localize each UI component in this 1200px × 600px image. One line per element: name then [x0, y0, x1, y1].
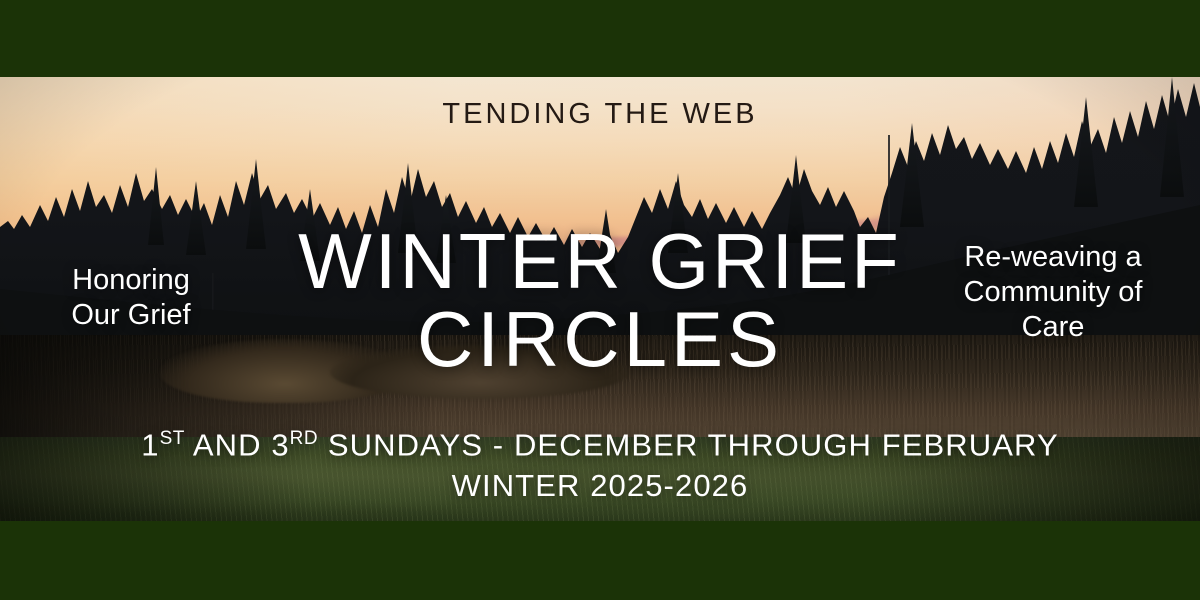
right-tagline-line-3: Care — [1022, 311, 1085, 343]
top-green-band — [0, 0, 1200, 77]
event-banner-poster: TENDING THE WEB WINTER GRIEF CIRCLES Hon… — [0, 0, 1200, 600]
schedule-conjunction: AND — [185, 427, 271, 462]
schedule-season-line: WINTER 2025-2026 — [0, 465, 1200, 506]
schedule-number-second: 3 — [271, 427, 289, 462]
organization-eyebrow: TENDING THE WEB — [0, 98, 1200, 131]
poster-text-layer: TENDING THE WEB WINTER GRIEF CIRCLES Hon… — [0, 0, 1200, 600]
schedule-block: 1ST AND 3RD SUNDAYS - DECEMBER THROUGH F… — [0, 418, 1200, 506]
left-tagline: Honoring Our Grief — [36, 263, 226, 333]
schedule-rest: SUNDAYS - DECEMBER THROUGH FEBRUARY — [318, 427, 1059, 462]
bottom-green-band — [0, 521, 1200, 600]
schedule-number-first: 1 — [141, 427, 159, 462]
left-tagline-line-1: Honoring — [72, 264, 190, 296]
schedule-line-1: 1ST AND 3RD SUNDAYS - DECEMBER THROUGH F… — [0, 418, 1200, 465]
schedule-ordinal-first: ST — [160, 428, 185, 449]
right-tagline-line-2: Community of — [964, 276, 1143, 308]
left-tagline-line-2: Our Grief — [71, 299, 190, 331]
right-tagline: Re-weaving a Community of Care — [928, 240, 1178, 345]
schedule-ordinal-second: RD — [290, 428, 318, 449]
right-tagline-line-1: Re-weaving a — [964, 241, 1141, 273]
